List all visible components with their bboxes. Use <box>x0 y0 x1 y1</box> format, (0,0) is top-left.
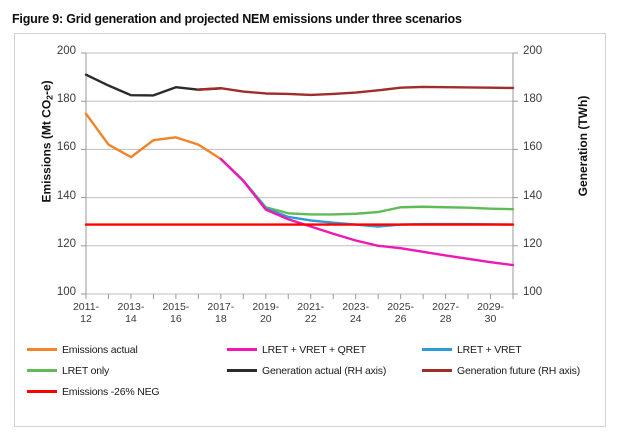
legend-item-generation-actual-rh-axis[interactable]: Generation actual (RH axis) <box>227 360 386 381</box>
legend-row: Emissions -26% NEG <box>27 381 597 402</box>
legend-label: Generation actual (RH axis) <box>262 365 386 377</box>
legend-swatch-icon <box>422 348 452 351</box>
legend-item-lret-only[interactable]: LRET only <box>27 360 109 381</box>
x-tick-label: 2019-20 <box>244 301 288 325</box>
legend-label: LRET only <box>62 365 109 377</box>
x-tick-label: 2021-22 <box>289 301 333 325</box>
y-tick-label: 200 <box>42 45 76 57</box>
figure-title: Figure 9: Grid generation and projected … <box>12 12 608 26</box>
legend-item-emissions-26-neg[interactable]: Emissions -26% NEG <box>27 381 159 402</box>
legend-item-lret-vret[interactable]: LRET + VRET <box>422 339 521 360</box>
legend-row: LRET onlyGeneration actual (RH axis)Gene… <box>27 360 597 381</box>
y2-tick-label: 100 <box>523 286 557 298</box>
series-line-lret-vret <box>221 159 513 226</box>
legend-item-lret-vret-qret[interactable]: LRET + VRET + QRET <box>227 339 366 360</box>
axis-lines <box>86 53 513 294</box>
y2-tick-label: 200 <box>523 45 557 57</box>
y-tick-label: 180 <box>42 93 76 105</box>
y2-tick-label: 120 <box>523 238 557 250</box>
legend-swatch-icon <box>27 369 57 372</box>
x-tick-label: 2017-18 <box>199 301 243 325</box>
x-tick-label: 2015-16 <box>154 301 198 325</box>
legend-label: Emissions actual <box>62 344 138 356</box>
legend-row: Emissions actualLRET + VRET + QRETLRET +… <box>27 339 597 360</box>
legend-swatch-icon <box>27 348 57 351</box>
x-tick-label: 2011-12 <box>64 301 108 325</box>
y2-tick-label: 160 <box>523 141 557 153</box>
x-tick-label: 2025-26 <box>379 301 423 325</box>
legend-label: Generation future (RH axis) <box>457 365 580 377</box>
x-tick-label: 2029-30 <box>469 301 513 325</box>
y-tick-label: 100 <box>42 286 76 298</box>
x-tick-label: 2027-28 <box>424 301 468 325</box>
legend-swatch-icon <box>27 390 57 393</box>
legend-swatch-icon <box>227 369 257 372</box>
series-line-emissions-actual <box>86 114 221 159</box>
y2-tick-label: 180 <box>523 93 557 105</box>
legend-item-emissions-actual[interactable]: Emissions actual <box>27 339 138 360</box>
gridlines <box>86 53 513 294</box>
legend-label: LRET + VRET + QRET <box>262 344 366 356</box>
y-tick-label: 160 <box>42 141 76 153</box>
y2-tick-label: 140 <box>523 190 557 202</box>
legend-label: LRET + VRET <box>457 344 521 356</box>
legend-swatch-icon <box>227 348 257 351</box>
axis-ticks <box>81 53 518 299</box>
legend-item-generation-future-rh-axis[interactable]: Generation future (RH axis) <box>422 360 580 381</box>
figure-container: Figure 9: Grid generation and projected … <box>0 0 620 439</box>
legend-label: Emissions -26% NEG <box>62 386 159 398</box>
x-tick-label: 2023-24 <box>334 301 378 325</box>
series-lines <box>86 75 513 265</box>
chart-legend: Emissions actualLRET + VRET + QRETLRET +… <box>27 339 597 411</box>
x-tick-label: 2013-14 <box>109 301 153 325</box>
y-tick-label: 120 <box>42 238 76 250</box>
chart-frame: Emissions (Mt CO2-e) Generation (TWh) 20… <box>14 33 606 427</box>
legend-swatch-icon <box>422 369 452 372</box>
series-line-generation-actual-rh-axis <box>86 75 221 96</box>
series-line-generation-future-rh-axis <box>198 87 513 95</box>
y-tick-label: 140 <box>42 190 76 202</box>
